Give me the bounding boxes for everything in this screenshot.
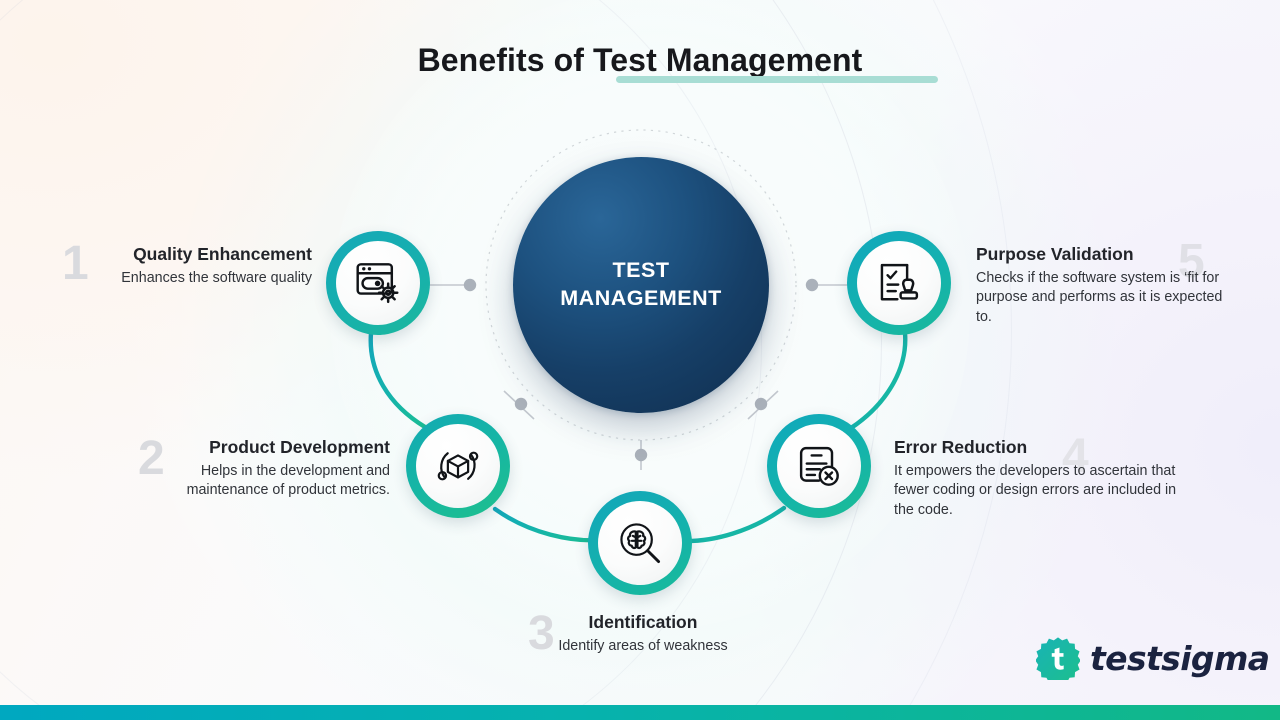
- testsigma-gear-logo: [1036, 636, 1080, 680]
- bottom-accent-bar: [0, 705, 1280, 720]
- center-hub-line1: TEST: [560, 257, 721, 285]
- node-inner-2: [416, 424, 500, 508]
- benefit-item-1: 1 Quality Enhancement Enhances the softw…: [62, 244, 312, 288]
- benefit-description-4: It empowers the developers to ascertain …: [894, 462, 1194, 520]
- benefit-description-5: Checks if the software system is ‘fit fo…: [976, 269, 1224, 327]
- node-inner-3: [598, 501, 682, 585]
- benefit-title-4: Error Reduction: [894, 437, 1194, 458]
- center-hub-label: TEST MANAGEMENT: [560, 257, 721, 312]
- node-inner-5: [857, 241, 941, 325]
- benefit-description-1: Enhances the software quality: [62, 269, 312, 288]
- magnifier-brain-icon: [613, 516, 667, 570]
- document-error-icon: [793, 440, 845, 492]
- benefit-title-2: Product Development: [138, 437, 390, 458]
- node-identification[interactable]: [588, 491, 692, 595]
- benefit-title-3: Identification: [528, 612, 758, 633]
- benefit-item-3: 3 Identification Identify areas of weakn…: [528, 612, 758, 656]
- benefit-description-2: Helps in the development and maintenance…: [138, 462, 390, 501]
- brand-logo: testsigma: [1036, 636, 1269, 680]
- node-error-reduction[interactable]: [767, 414, 871, 518]
- node-product-development[interactable]: [406, 414, 510, 518]
- checklist-stamp-icon: [873, 257, 925, 309]
- node-purpose-validation[interactable]: [847, 231, 951, 335]
- benefit-title-5: Purpose Validation: [976, 244, 1224, 265]
- center-hub: TEST MANAGEMENT: [513, 157, 769, 413]
- node-inner-1: [336, 241, 420, 325]
- center-hub-line2: MANAGEMENT: [560, 285, 721, 313]
- benefit-description-3: Identify areas of weakness: [528, 637, 758, 656]
- benefit-number-2: 2: [138, 435, 164, 483]
- orbiting-cube-icon: [431, 439, 485, 493]
- benefit-number-3: 3: [528, 610, 554, 658]
- infographic-canvas: Benefits of Test Management: [0, 0, 1280, 720]
- benefit-item-2: 2 Product Development Helps in the devel…: [138, 437, 390, 501]
- node-inner-4: [777, 424, 861, 508]
- benefit-item-4: 4 Error Reduction It empowers the develo…: [894, 437, 1194, 520]
- browser-toggle-gear-icon: [352, 257, 404, 309]
- brand-wordmark: testsigma: [1090, 639, 1269, 678]
- benefit-number-1: 1: [62, 240, 88, 288]
- benefit-title-1: Quality Enhancement: [62, 244, 312, 265]
- benefit-item-5: 5 Purpose Validation Checks if the softw…: [976, 244, 1224, 327]
- node-quality-enhancement[interactable]: [326, 231, 430, 335]
